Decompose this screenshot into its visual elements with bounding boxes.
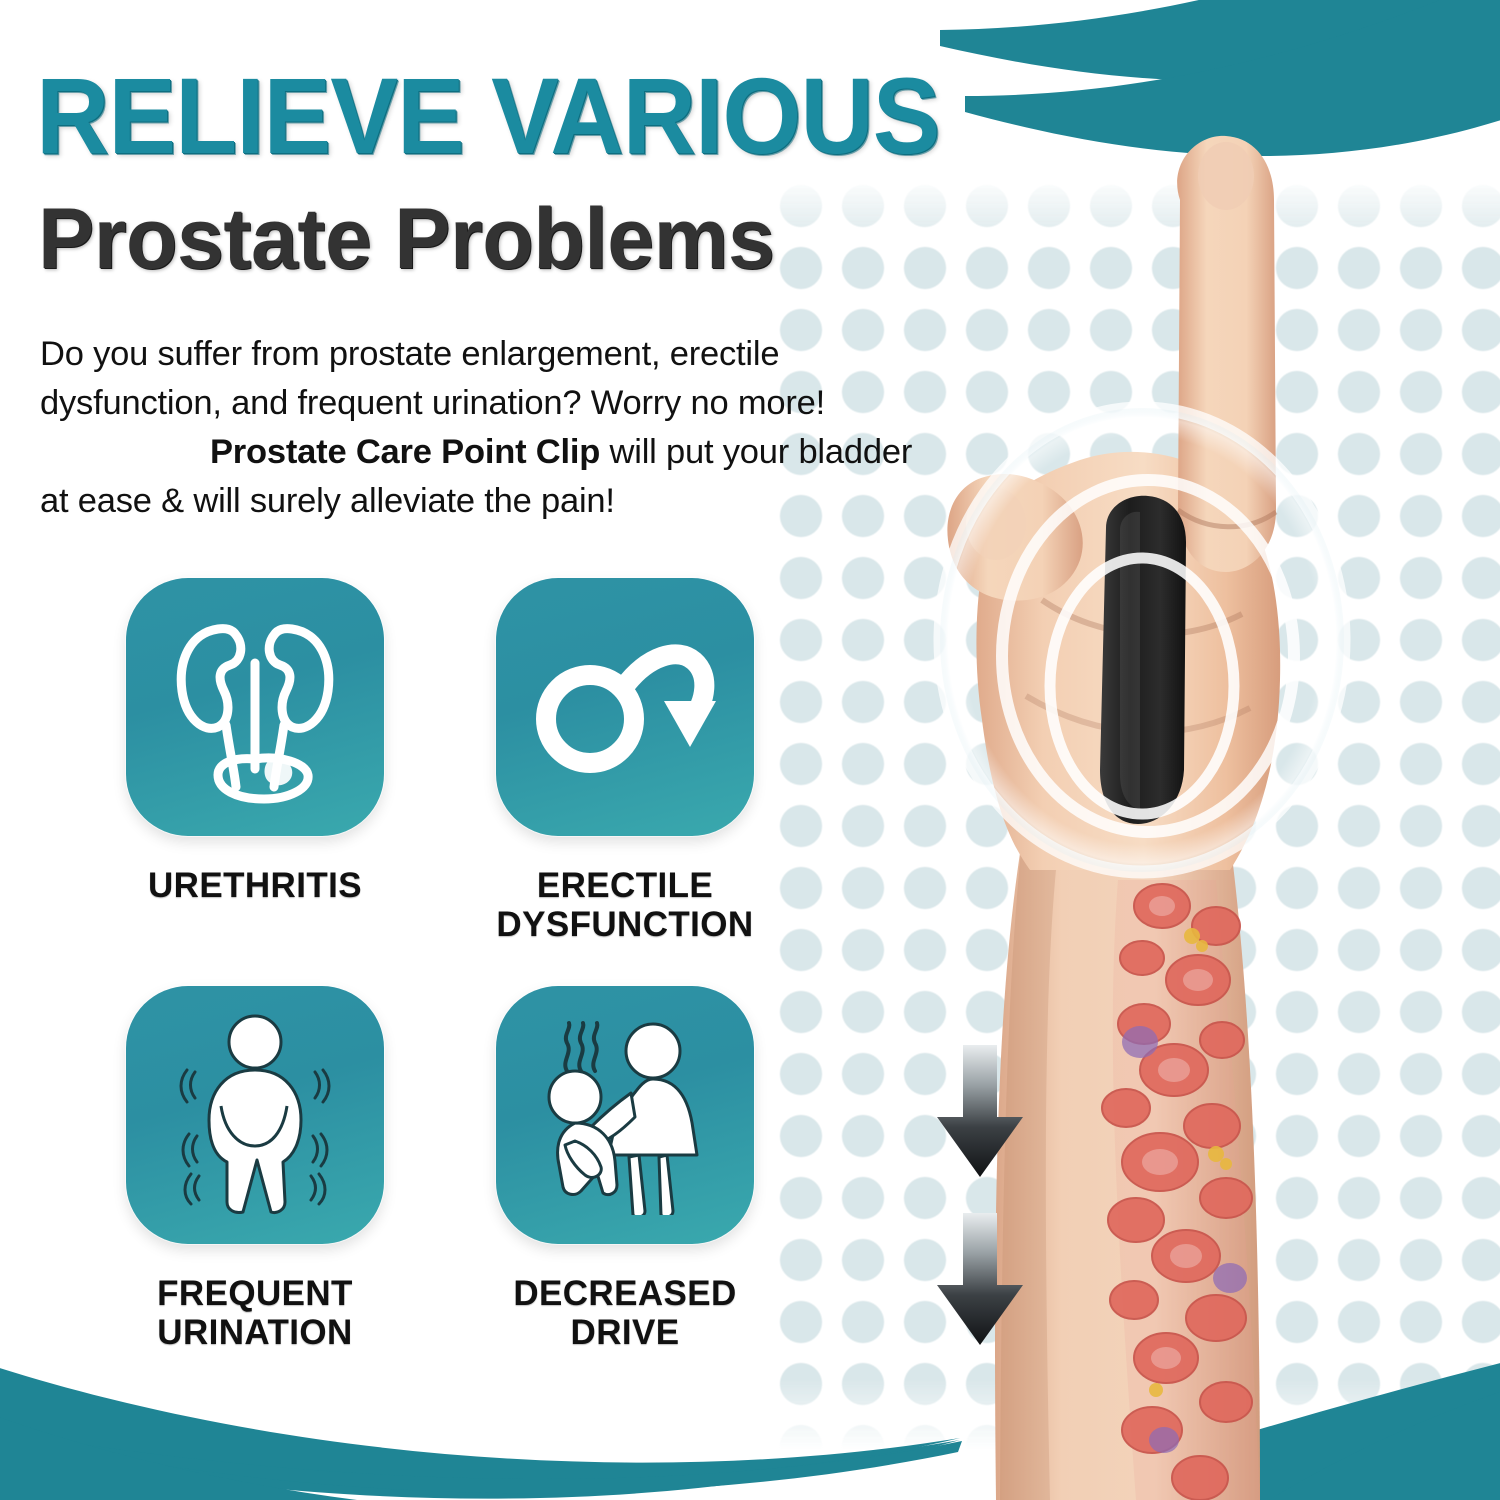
body-line-1: Do you suffer from prostate enlargement,… bbox=[40, 335, 779, 373]
body-line-3: will put your bladder bbox=[600, 433, 912, 471]
fingernail bbox=[1198, 142, 1254, 210]
flow-arrow-group bbox=[925, 1045, 1035, 1355]
page-subheadline: Prostate Problems bbox=[38, 196, 1018, 282]
feature-tile-decreased-drive[interactable]: DECREASED DRIVE bbox=[496, 986, 761, 1352]
swoosh-bottom-upper bbox=[0, 1395, 880, 1500]
brand-name: Prostate Care Point Clip bbox=[210, 433, 600, 471]
feature-label: URETHRITIS bbox=[126, 866, 384, 905]
tile-icon-box bbox=[126, 986, 384, 1244]
poster-canvas: RELIEVE VARIOUS Prostate Problems Do you… bbox=[0, 0, 1500, 1500]
body-line-2: dysfunction, and frequent urination? Wor… bbox=[40, 384, 825, 422]
couple-low-libido-icon bbox=[525, 1015, 725, 1215]
tile-icon-box bbox=[496, 986, 754, 1244]
body-line-4: at ease & will surely alleviate the pain… bbox=[40, 482, 615, 520]
page-headline: RELIEVE VARIOUS bbox=[36, 62, 1032, 170]
feature-label: DECREASED DRIVE bbox=[496, 1274, 754, 1352]
downward-flow-arrow bbox=[937, 1045, 1023, 1177]
male-symbol-drooping-icon bbox=[530, 627, 720, 787]
tile-icon-box bbox=[126, 578, 384, 836]
person-holding-bladder-icon bbox=[165, 1010, 345, 1220]
vibration-ripple-rings bbox=[940, 408, 1344, 872]
tile-icon-box bbox=[496, 578, 754, 836]
feature-label: ERECTILE DYSFUNCTION bbox=[496, 866, 754, 944]
body-copy: Do you suffer from prostate enlargement,… bbox=[40, 330, 1005, 526]
downward-flow-arrow bbox=[937, 1213, 1023, 1345]
feature-tile-erectile-dysfunction[interactable]: ERECTILE DYSFUNCTION bbox=[496, 578, 761, 944]
feature-tile-frequent-urination[interactable]: FREQUENT URINATION bbox=[126, 986, 391, 1352]
feature-label: FREQUENT URINATION bbox=[126, 1274, 384, 1352]
feature-tile-urethritis[interactable]: URETHRITIS bbox=[126, 578, 391, 905]
urinary-tract-icon bbox=[160, 607, 350, 807]
